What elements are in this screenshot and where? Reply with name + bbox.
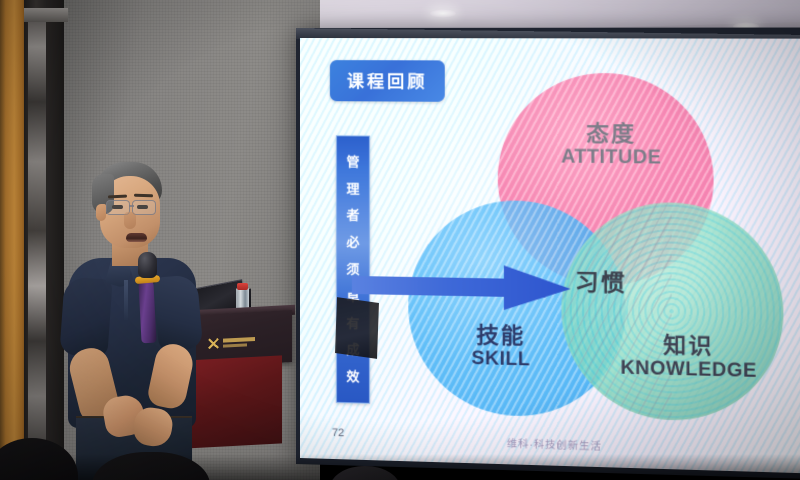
metal-reflective-strip <box>28 10 46 470</box>
microphone-head-icon <box>138 252 157 278</box>
presenter-ear <box>96 204 106 221</box>
vbar-char: 效 <box>346 370 359 383</box>
projected-slide: 课程回顾 管 理 者 必 须 卓 有 成 效 <box>300 38 800 474</box>
presenter-left-sleeve <box>59 276 112 357</box>
slide-title-badge: 课程回顾 <box>330 60 445 102</box>
presenter-eyebrow-right <box>134 194 153 198</box>
venn-label-knowledge-en: KNOWLEDGE <box>605 358 773 382</box>
downlight-icon <box>430 9 456 18</box>
metal-column-cap <box>24 8 68 22</box>
venn-label-skill: 技能 SKILL <box>435 323 568 372</box>
venn-label-skill-cn: 技能 <box>435 323 568 349</box>
venn-label-knowledge: 知识 KNOWLEDGE <box>605 332 773 382</box>
vbar-char: 管 <box>346 155 359 168</box>
venn-label-attitude-en: ATTITUDE <box>535 147 689 169</box>
presentation-photo-scene: 课程回顾 管 理 者 必 须 卓 有 成 效 <box>0 0 800 480</box>
glasses-bridge <box>129 205 134 207</box>
right-arrow-icon <box>352 263 571 311</box>
venn-intersection-label: 习惯 <box>553 262 648 298</box>
presenter-mouth <box>126 233 147 242</box>
venn-label-attitude-cn: 态度 <box>535 122 689 147</box>
venn-circle-knowledge <box>561 201 783 423</box>
vbar-char: 必 <box>346 236 359 249</box>
presenter-right-sleeve <box>153 274 203 352</box>
presenter-nose <box>124 212 136 229</box>
microphone-handle <box>138 281 156 344</box>
presenter-shirt-placket <box>124 280 128 320</box>
venn-label-skill-en: SKILL <box>435 348 568 371</box>
venn-label-knowledge-cn: 知识 <box>605 332 773 359</box>
vbar-char: 理 <box>346 182 359 195</box>
wood-trim-column <box>0 0 26 480</box>
vbar-char: 者 <box>346 209 359 222</box>
second-laptop <box>335 297 379 359</box>
venn-diagram <box>300 38 800 474</box>
venn-label-attitude: 态度 ATTITUDE <box>535 122 689 169</box>
presenter <box>60 160 240 480</box>
glasses-lens-right <box>132 200 156 215</box>
